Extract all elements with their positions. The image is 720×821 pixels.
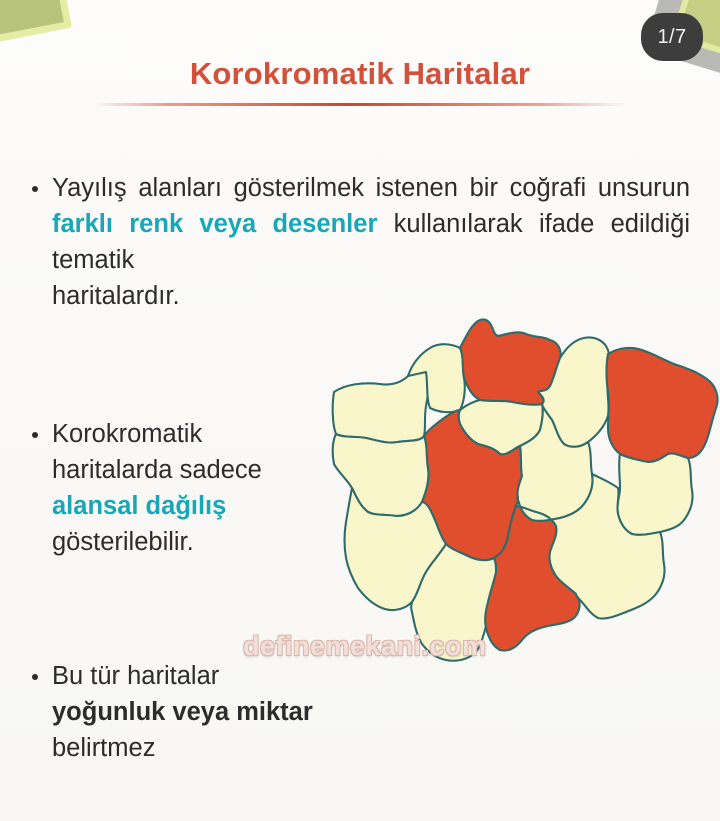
bullet-1-highlight: farklı renk veya desenler [52,210,377,238]
page-indicator-badge[interactable]: 1/7 [641,13,703,61]
bullet-3-highlight: yoğunluk veya miktar [52,694,400,730]
bullet-item-1: Yayılış alanları gösterilmek istenen bir… [0,170,690,314]
decoration-top-left-green [0,0,72,51]
bullet-1-line-2-pre: unsurun [598,174,690,202]
bullet-1-line-1: Yayılış alanları gösterilmek istenen bir… [52,174,586,202]
page-title: Korokromatik Haritalar [0,56,720,92]
bullet-1-line-4: haritalardır. [52,278,690,314]
bullet-2-line-2: haritalarda sadece [52,452,330,488]
bullet-2-highlight: alansal dağılış [52,488,330,524]
bullet-3-line-1: Bu tür haritalar [52,658,400,694]
bullet-item-3: Bu tür haritalar yoğunluk veya miktar be… [0,658,400,766]
slide-canvas: 1/7 Korokromatik Haritalar [0,0,720,821]
site-watermark: definemekani.com [243,631,487,662]
bullet-1-line-2-post: kullanılarak [377,210,522,238]
page-indicator-label: 1/7 [657,26,686,49]
bullet-item-2: Korokromatik haritalarda sadece alansal … [0,416,330,560]
bullet-2-line-1: Korokromatik [52,416,330,452]
bullet-2-line-4: gösterilebilir. [52,524,330,560]
slide-body: Yayılış alanları gösterilmek istenen bir… [0,170,720,766]
bullet-3-line-3: belirtmez [52,730,400,766]
title-divider [92,103,628,106]
